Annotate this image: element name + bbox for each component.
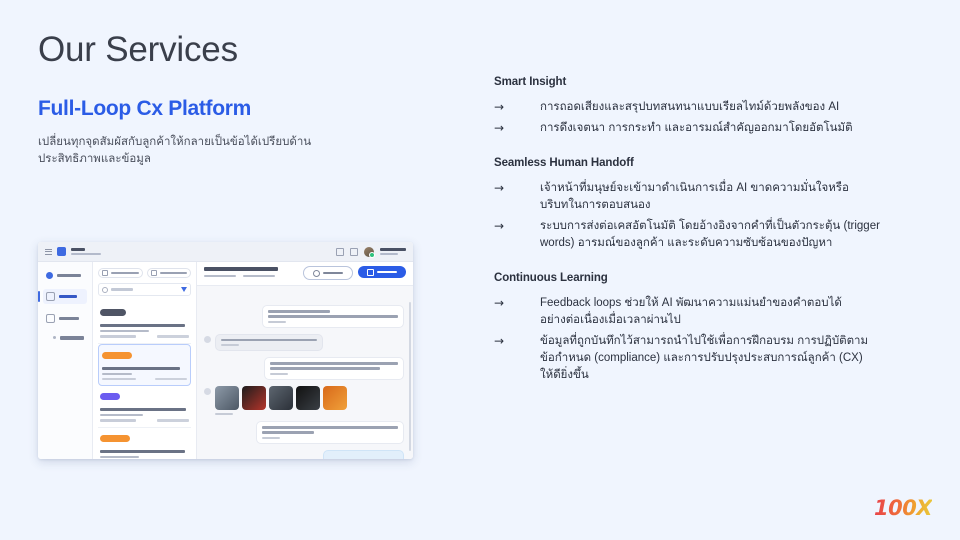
status-badge bbox=[100, 435, 130, 442]
avatar bbox=[204, 388, 211, 395]
chat-header bbox=[197, 262, 413, 286]
bullet-text: ระบบการส่งต่อเคสอัตโนมัติ โดยอ้างอิงจากค… bbox=[540, 218, 885, 252]
list-item: → ระบบการส่งต่อเคสอัตโนมัติ โดยอ้างอิงจา… bbox=[494, 218, 914, 252]
list-item: → การดึงเจตนา การกระทำ และอารมณ์สำคัญออก… bbox=[494, 120, 914, 137]
headset-icon bbox=[313, 270, 320, 277]
message-incoming-attachments bbox=[204, 386, 404, 415]
list-filter-chips bbox=[98, 268, 191, 278]
section-continuous-learning: Continuous Learning → Feedback loops ช่ว… bbox=[494, 272, 914, 384]
bullet-list: → การถอดเสียงและสรุปบทสนทนาแบบเรียลไทม์ด… bbox=[494, 99, 914, 137]
status-badge bbox=[102, 352, 132, 359]
brand-logo: 100X bbox=[874, 496, 932, 520]
avatar bbox=[204, 336, 211, 343]
intro-paragraph: เปลี่ยนทุกจุดสัมผัสกับลูกค้าให้กลายเป็นข… bbox=[38, 134, 343, 168]
image-thumbnail[interactable] bbox=[242, 386, 266, 410]
bullet-icon bbox=[53, 336, 56, 339]
status-badge bbox=[100, 309, 126, 316]
message-bubble bbox=[262, 305, 404, 328]
image-thumbnail[interactable] bbox=[296, 386, 320, 410]
bullet-text: เจ้าหน้าที่มนุษย์จะเข้ามาดำเนินการเมื่อ … bbox=[540, 180, 870, 214]
message-outgoing bbox=[204, 357, 404, 380]
bullet-list: → เจ้าหน้าที่มนุษย์จะเข้ามาดำเนินการเมื่… bbox=[494, 180, 914, 252]
arrow-icon: → bbox=[494, 180, 540, 197]
sidebar-item-label bbox=[57, 274, 81, 278]
section-subtitle: Full-Loop Cx Platform bbox=[38, 96, 458, 122]
filter-chip-status[interactable] bbox=[98, 268, 143, 278]
sidebar-item-inbox[interactable] bbox=[43, 269, 87, 282]
arrow-icon: → bbox=[494, 295, 540, 312]
section-smart-insight: Smart Insight → การถอดเสียงและสรุปบทสนทน… bbox=[494, 76, 914, 137]
message-bubble bbox=[256, 421, 404, 444]
message-list[interactable] bbox=[197, 299, 413, 459]
section-title: Continuous Learning bbox=[494, 272, 914, 284]
bullet-list: → Feedback loops ช่วยให้ AI พัฒนาความแม่… bbox=[494, 295, 914, 384]
right-column: Smart Insight → การถอดเสียงและสรุปบทสนทน… bbox=[494, 76, 914, 388]
filter-funnel-icon[interactable] bbox=[181, 287, 187, 292]
screenshot-canvas bbox=[38, 242, 413, 459]
section-seamless-human-handoff: Seamless Human Handoff → เจ้าหน้าที่มนุษ… bbox=[494, 157, 914, 252]
sidebar-item-reports[interactable] bbox=[43, 311, 87, 326]
message-timestamp bbox=[268, 321, 286, 323]
page-title: Our Services bbox=[38, 30, 458, 70]
reports-icon bbox=[46, 314, 55, 323]
app-brand-name bbox=[71, 248, 101, 255]
bullet-text: ข้อมูลที่ถูกบันทึกไว้สามารถนำไปใช้เพื่อก… bbox=[540, 333, 870, 384]
sidebar-item-label bbox=[59, 317, 79, 321]
image-thumbnail[interactable] bbox=[323, 386, 347, 410]
list-item[interactable] bbox=[98, 386, 191, 428]
message-bubble bbox=[264, 357, 404, 380]
bullet-text: การดึงเจตนา การกระทำ และอารมณ์สำคัญออกมา… bbox=[540, 120, 853, 137]
chat-header-actions bbox=[204, 266, 406, 280]
list-item[interactable] bbox=[98, 344, 191, 387]
account-name bbox=[380, 248, 406, 255]
slide: Our Services Full-Loop Cx Platform เปลี่… bbox=[0, 0, 960, 540]
message-outgoing-highlight bbox=[204, 450, 404, 459]
bell-icon[interactable] bbox=[350, 248, 358, 256]
inbox-icon bbox=[46, 272, 53, 279]
arrow-icon: → bbox=[494, 99, 540, 116]
chat-scrollbar[interactable] bbox=[409, 302, 412, 451]
arrow-icon: → bbox=[494, 120, 540, 137]
search-icon bbox=[102, 287, 108, 293]
list-item: → การถอดเสียงและสรุปบทสนทนาแบบเรียลไทม์ด… bbox=[494, 99, 914, 116]
list-item: → ข้อมูลที่ถูกบันทึกไว้สามารถนำไปใช้เพื่… bbox=[494, 333, 914, 384]
channel-icon bbox=[151, 270, 157, 276]
bullet-text: Feedback loops ช่วยให้ AI พัฒนาความแม่นย… bbox=[540, 295, 852, 329]
arrow-icon: → bbox=[494, 333, 540, 350]
message-incoming bbox=[204, 334, 404, 352]
conversation-list[interactable] bbox=[93, 262, 197, 459]
section-title: Seamless Human Handoff bbox=[494, 157, 914, 169]
message-timestamp bbox=[262, 437, 280, 439]
chat-panel bbox=[197, 262, 413, 459]
message-timestamp bbox=[215, 413, 233, 415]
message-timestamp bbox=[221, 344, 239, 346]
grid-icon[interactable] bbox=[336, 248, 344, 256]
message-timestamp bbox=[270, 373, 288, 375]
message-outgoing bbox=[204, 421, 404, 444]
arrow-icon: → bbox=[494, 218, 540, 235]
filter-icon bbox=[102, 270, 108, 276]
status-badge bbox=[100, 393, 120, 400]
product-screenshot bbox=[38, 242, 413, 459]
image-thumbnail[interactable] bbox=[269, 386, 293, 410]
avatar[interactable] bbox=[364, 247, 374, 257]
message-bubble bbox=[215, 334, 323, 352]
image-thumbnails[interactable] bbox=[215, 386, 347, 410]
primary-action-button[interactable] bbox=[358, 266, 406, 278]
message-bubble bbox=[323, 450, 404, 459]
bullet-text: การถอดเสียงและสรุปบทสนทนาแบบเรียลไทม์ด้ว… bbox=[540, 99, 839, 116]
app-logo-icon bbox=[57, 247, 66, 256]
sidebar-item-tasks[interactable] bbox=[43, 289, 87, 304]
app-sidebar bbox=[38, 262, 93, 459]
tasks-icon bbox=[46, 292, 55, 301]
sidebar-item-sub[interactable] bbox=[43, 333, 87, 343]
message-outgoing bbox=[204, 305, 404, 328]
attachment-group bbox=[215, 386, 347, 415]
list-item: → เจ้าหน้าที่มนุษย์จะเข้ามาดำเนินการเมื่… bbox=[494, 180, 914, 214]
app-top-bar bbox=[38, 242, 413, 262]
list-search-input[interactable] bbox=[98, 283, 191, 296]
ticket-icon bbox=[367, 269, 374, 276]
call-button[interactable] bbox=[303, 266, 353, 280]
list-item[interactable] bbox=[98, 428, 191, 459]
image-thumbnail[interactable] bbox=[215, 386, 239, 410]
filter-chip-channel[interactable] bbox=[147, 268, 192, 278]
menu-icon[interactable] bbox=[45, 249, 52, 255]
list-item: → Feedback loops ช่วยให้ AI พัฒนาความแม่… bbox=[494, 295, 914, 329]
sidebar-item-label bbox=[60, 336, 84, 340]
list-item[interactable] bbox=[98, 302, 191, 344]
section-title: Smart Insight bbox=[494, 76, 914, 88]
sidebar-item-label bbox=[59, 295, 77, 299]
app-top-bar-actions bbox=[336, 247, 406, 257]
left-column: Our Services Full-Loop Cx Platform เปลี่… bbox=[38, 30, 458, 168]
